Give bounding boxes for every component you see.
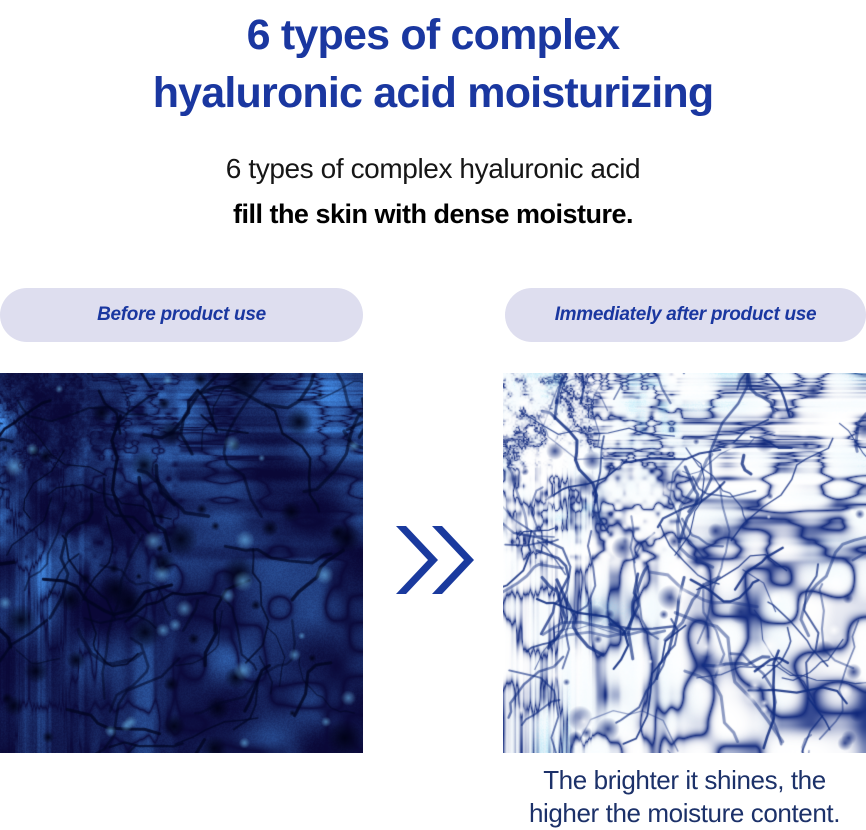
after-label-pill: Immediately after product use: [505, 288, 866, 342]
after-label-text: Immediately after product use: [555, 304, 817, 326]
page-subtitle-line-1: 6 types of complex hyaluronic acid: [0, 150, 866, 188]
before-label-text: Before product use: [97, 304, 266, 326]
page-subtitle: 6 types of complex hyaluronic acid fill …: [0, 150, 866, 233]
moisture-caption-line-2: higher the moisture content.: [503, 797, 866, 830]
double-chevron-right-icon: [392, 520, 476, 600]
page-title-line-1: 6 types of complex: [0, 0, 866, 64]
skin-micrograph-after: [503, 373, 866, 753]
moisture-caption-line-1: The brighter it shines, the: [503, 764, 866, 797]
skin-micrograph-before: [0, 373, 363, 753]
page-title-line-2: hyaluronic acid moisturizing: [0, 64, 866, 122]
moisture-caption: The brighter it shines, the higher the m…: [503, 764, 866, 830]
page-subtitle-line-2: fill the skin with dense moisture.: [0, 195, 866, 233]
page-title: 6 types of complex hyaluronic acid moist…: [0, 0, 866, 122]
before-label-pill: Before product use: [0, 288, 363, 342]
skin-micrograph-before-canvas: [0, 373, 363, 753]
skin-micrograph-after-canvas: [503, 373, 866, 753]
